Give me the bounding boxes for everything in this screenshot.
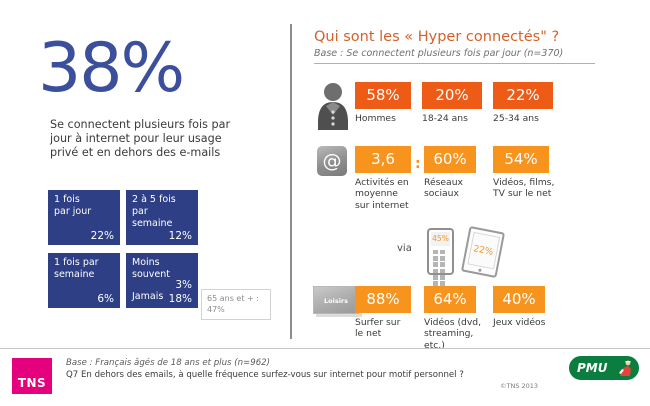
stat-25-34-caption: 25-34 ans — [493, 113, 553, 124]
loisirs-icon: Loisirs — [313, 286, 359, 314]
frequency-box-less-label: Moins souvent — [132, 257, 194, 281]
headline-statistic: 38% — [38, 35, 183, 103]
mobile-phone-icon: 45% — [427, 228, 454, 275]
frequency-box-less-never: Moins souvent 3% Jamais 18% — [126, 253, 198, 308]
stat-jeux-videos-value: 40% — [493, 286, 545, 313]
stat-18-24: 20% 18-24 ans — [422, 82, 482, 124]
frequency-box-once-weekly-label: 1 fois par semaine — [54, 257, 116, 281]
stat-videos-dvd-value: 64% — [424, 286, 476, 313]
infographic-page: 38% Se connectent plusieurs fois par jou… — [0, 0, 650, 406]
via-label: via — [397, 243, 412, 254]
pmu-logo-text: PMU — [577, 361, 607, 375]
stat-reseaux-sociaux-value: 60% — [424, 146, 476, 173]
stat-videos-tv-value: 54% — [493, 146, 549, 173]
stat-hommes-caption: Hommes — [355, 113, 411, 124]
phone-keypad — [432, 249, 449, 270]
footer-divider — [0, 348, 650, 349]
frequency-box-2to5-weekly-value: 12% — [169, 230, 192, 242]
frequency-box-daily-label: 1 fois par jour — [54, 194, 116, 218]
vertical-divider — [290, 24, 292, 339]
stat-hommes: 58% Hommes — [355, 82, 411, 124]
frequency-box-2to5-weekly-label: 2 à 5 fois par semaine — [132, 194, 194, 230]
stat-surfer: 88% Surfer sur le net — [355, 286, 411, 340]
stat-activites: 3,6 Activités en moyenne sur internet — [355, 146, 411, 211]
stat-surfer-caption: Surfer sur le net — [355, 317, 411, 340]
stat-18-24-value: 20% — [422, 82, 482, 109]
headline-description: Se connectent plusieurs fois par jour à … — [50, 118, 250, 161]
stat-videos-dvd-caption: Vidéos (dvd, streaming, etc.) — [424, 317, 484, 351]
stat-hommes-value: 58% — [355, 82, 411, 109]
title-underline — [314, 63, 595, 64]
person-icon — [316, 82, 350, 130]
stat-videos-dvd: 64% Vidéos (dvd, streaming, etc.) — [424, 286, 484, 351]
frequency-box-once-weekly-value: 6% — [97, 293, 114, 305]
tns-logo: TNS — [12, 358, 52, 394]
stat-25-34-value: 22% — [493, 82, 553, 109]
frequency-box-less-value: 3% — [175, 279, 192, 291]
age-callout: 65 ans et + : 47% — [201, 289, 271, 320]
phone-screen-value: 45% — [431, 232, 450, 246]
stat-activites-value: 3,6 — [355, 146, 411, 173]
frequency-box-once-weekly: 1 fois par semaine 6% — [48, 253, 120, 308]
right-panel-title: Qui sont les « Hyper connectés" ? — [314, 29, 559, 45]
tns-logo-text: TNS — [12, 376, 52, 390]
tablet-home-button — [478, 268, 482, 272]
stat-reseaux-sociaux-caption: Réseaux sociaux — [424, 177, 476, 200]
tablet-screen-value: 22% — [467, 232, 500, 270]
ratio-colon: : — [415, 156, 421, 172]
frequency-box-never-value: 18% — [169, 293, 192, 305]
stat-surfer-value: 88% — [355, 286, 411, 313]
left-panel: 38% Se connectent plusieurs fois par jou… — [0, 0, 290, 348]
frequency-box-never-label: Jamais — [132, 291, 163, 302]
frequency-box-daily: 1 fois par jour 22% — [48, 190, 120, 245]
pmu-jockey-icon — [617, 359, 634, 378]
stat-activites-caption: Activités en moyenne sur internet — [355, 177, 411, 211]
stat-reseaux-sociaux: 60% Réseaux sociaux — [424, 146, 476, 200]
frequency-box-2to5-weekly: 2 à 5 fois par semaine 12% — [126, 190, 198, 245]
stat-18-24-caption: 18-24 ans — [422, 113, 482, 124]
stat-25-34: 22% 25-34 ans — [493, 82, 553, 124]
stat-videos-tv: 54% Vidéos, films, TV sur le net — [493, 146, 563, 200]
at-sign-icon: @ — [317, 146, 347, 176]
copyright-text: ©TNS 2013 — [500, 382, 538, 390]
frequency-box-daily-value: 22% — [91, 230, 114, 242]
footer-question-text: Q7 En dehors des emails, à quelle fréque… — [66, 370, 496, 381]
tablet-icon: 22% — [461, 226, 505, 278]
right-panel-subtitle: Base : Se connectent plusieurs fois par … — [314, 48, 614, 59]
pmu-logo: PMU — [568, 355, 640, 381]
stat-jeux-videos-caption: Jeux vidéos — [493, 317, 555, 328]
right-panel: Qui sont les « Hyper connectés" ? Base :… — [305, 0, 650, 348]
stat-videos-tv-caption: Vidéos, films, TV sur le net — [493, 177, 563, 200]
stat-jeux-videos: 40% Jeux vidéos — [493, 286, 555, 328]
footer-base-text: Base : Français âgés de 18 ans et plus (… — [66, 358, 486, 368]
